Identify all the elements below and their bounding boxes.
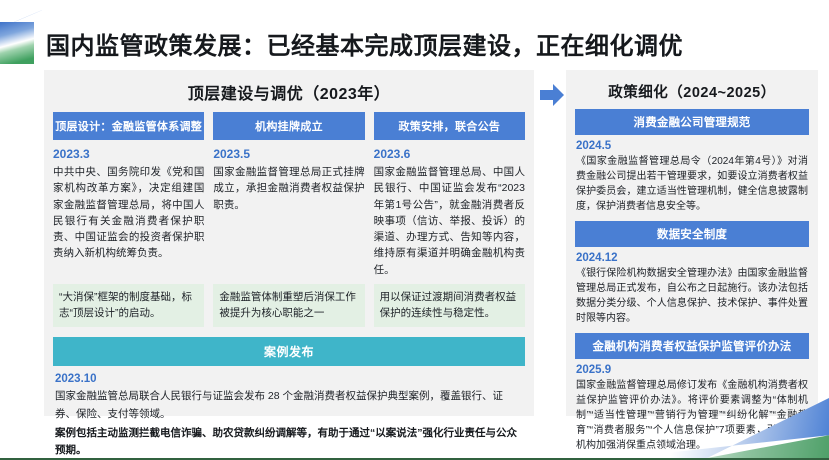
policy-card-body: 《银行保险机构数据安全管理办法》由国家金融监督管理总局正式发布，自公布之日起施行… bbox=[576, 266, 808, 326]
decoration-bottom-right bbox=[619, 398, 829, 458]
column-header: 政策安排，联合公告 bbox=[374, 112, 525, 140]
case-release-date: 2023.10 bbox=[55, 373, 525, 385]
column-date: 2023.5 bbox=[213, 147, 364, 161]
case-release-body: 国家金融监管总局联合人民银行与证监会发布 28 个金融消费者权益保护典型案例，覆… bbox=[55, 388, 523, 423]
case-release-body-emphasis: 案例包括主动监测拦截电信诈骗、助农贷款纠纷调解等，有助于通过“以案说法”强化行业… bbox=[55, 425, 523, 460]
right-panel: 政策细化（2024~2025） 消费金融公司管理规范 2024.5 《国家金融监… bbox=[566, 70, 818, 416]
left-panel: 顶层建设与调优（2023年） 顶层设计：金融监管体系调整 2023.3 中共中央… bbox=[44, 70, 534, 416]
case-release-block: 案例发布 2023.10 国家金融监管总局联合人民银行与证监会发布 28 个金融… bbox=[53, 337, 525, 459]
timeline-column: 顶层设计：金融监管体系调整 2023.3 中共中央、国务院印发《党和国家机构改革… bbox=[53, 112, 204, 327]
column-highlight-note: 用以保证过渡期间消费者权益保护的连续性与稳定性。 bbox=[374, 284, 525, 328]
right-panel-title: 政策细化（2024~2025） bbox=[566, 70, 818, 109]
slide-canvas: 国内监管政策发展：已经基本完成顶层建设，正在细化调优 顶层建设与调优（2023年… bbox=[0, 0, 829, 460]
title-accent-gradient-bar bbox=[0, 22, 34, 64]
policy-card-date: 2024.5 bbox=[576, 140, 809, 152]
policy-card-header: 消费金融公司管理规范 bbox=[575, 109, 809, 135]
column-highlight-note: 金融监管体制重塑后消保工作被提升为核心职能之一 bbox=[213, 284, 364, 328]
policy-card-body: 《国家金融监督管理总局令（2024年第4号）》对消费金融公司提出若干管理要求，如… bbox=[576, 154, 808, 214]
policy-card-date: 2025.9 bbox=[576, 364, 809, 376]
case-release-header: 案例发布 bbox=[53, 337, 525, 366]
left-panel-columns: 顶层设计：金融监管体系调整 2023.3 中共中央、国务院印发《党和国家机构改革… bbox=[44, 112, 534, 327]
page-title: 国内监管政策发展：已经基本完成顶层建设，正在细化调优 bbox=[46, 26, 683, 61]
column-header: 机构挂牌成立 bbox=[213, 112, 364, 140]
column-header: 顶层设计：金融监管体系调整 bbox=[53, 112, 204, 140]
column-body-text: 国家金融监督管理总局正式挂牌成立，承担金融消费者权益保护职责。 bbox=[213, 164, 364, 278]
timeline-column: 政策安排，联合公告 2023.6 国家金融监督管理总局、中国人民银行、中国证监会… bbox=[374, 112, 525, 327]
column-body-text: 中共中央、国务院印发《党和国家机构改革方案》，决定组建国家金融监督管理总局，将中… bbox=[53, 164, 204, 278]
column-highlight-note: “大消保”框架的制度基础，标志“顶层设计”的启动。 bbox=[53, 284, 204, 328]
column-date: 2023.6 bbox=[374, 147, 525, 161]
policy-card-date: 2024.12 bbox=[576, 252, 809, 264]
policy-card-header: 金融机构消费者权益保护监管评价办法 bbox=[575, 333, 809, 359]
slide-title-bar: 国内监管政策发展：已经基本完成顶层建设，正在细化调优 bbox=[0, 22, 683, 64]
arrow-right-icon bbox=[540, 84, 564, 106]
column-date: 2023.3 bbox=[53, 147, 204, 161]
policy-card: 数据安全制度 2024.12 《银行保险机构数据安全管理办法》由国家金融监督管理… bbox=[575, 221, 809, 326]
policy-card-header: 数据安全制度 bbox=[575, 221, 809, 247]
left-panel-title: 顶层建设与调优（2023年） bbox=[44, 70, 534, 112]
timeline-column: 机构挂牌成立 2023.5 国家金融监督管理总局正式挂牌成立，承担金融消费者权益… bbox=[213, 112, 364, 327]
column-body-text: 国家金融监督管理总局、中国人民银行、中国证监会发布“2023年第1号公告”，就金… bbox=[374, 164, 525, 278]
policy-card: 消费金融公司管理规范 2024.5 《国家金融监督管理总局令（2024年第4号）… bbox=[575, 109, 809, 214]
